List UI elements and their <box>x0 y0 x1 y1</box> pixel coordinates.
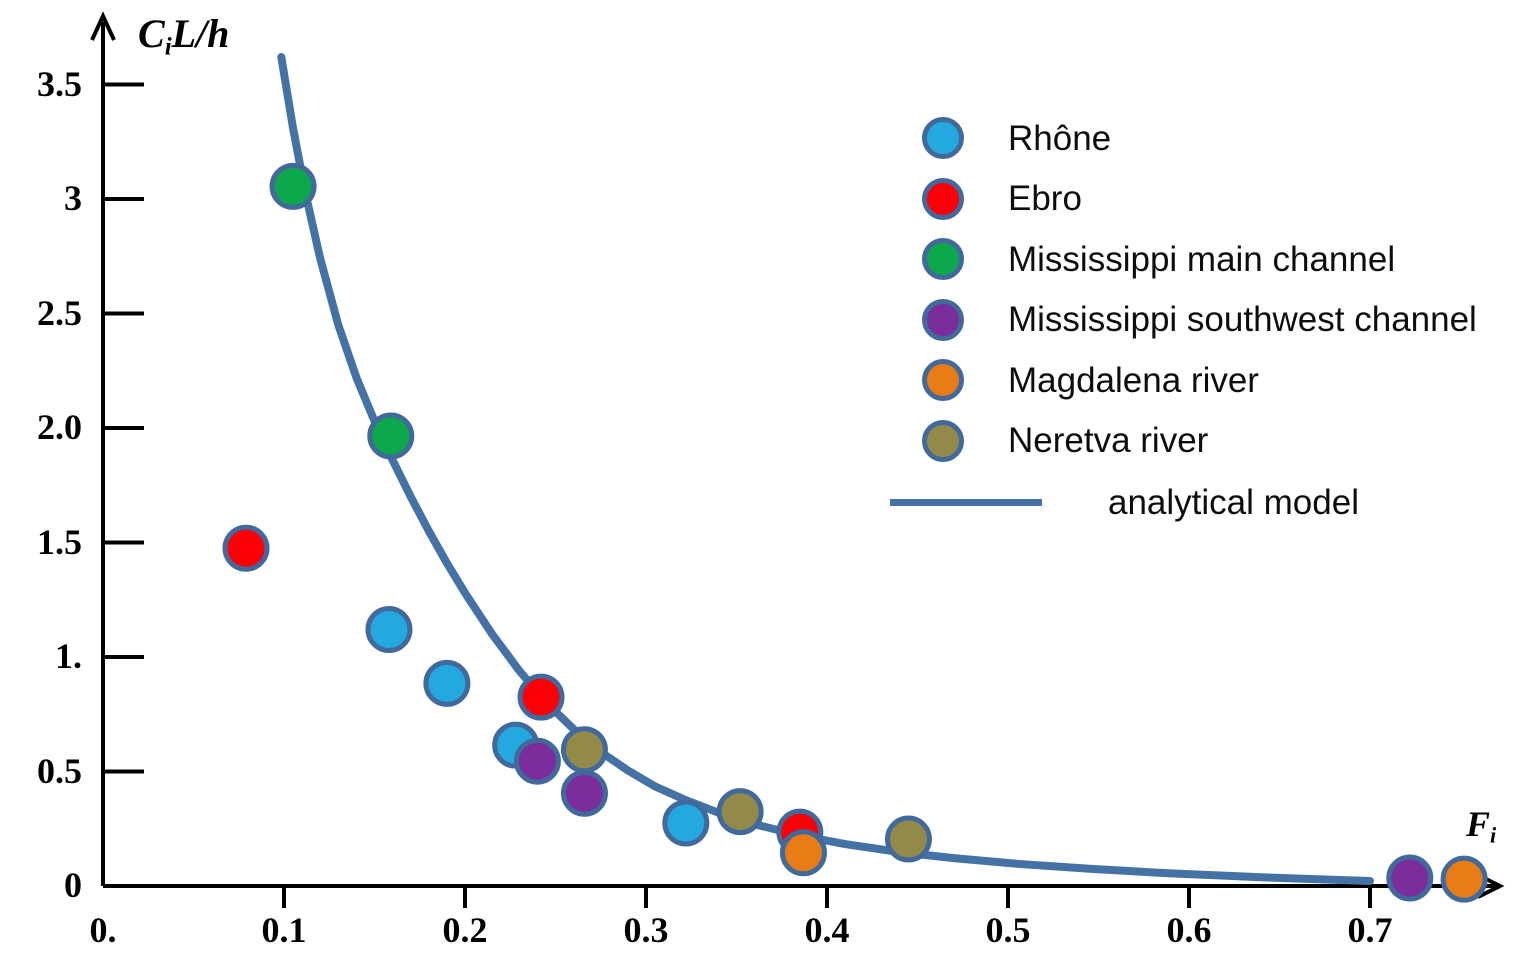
x-tick-label: 0.3 <box>601 912 691 948</box>
y-tick-label: 3.5 <box>2 66 82 102</box>
data-point-marker <box>520 676 562 718</box>
legend-item-label: Ebro <box>1008 181 1082 216</box>
data-point-marker <box>516 740 558 782</box>
chart-canvas: CiL/h Fi 00.51.1.52.02.533.50.0.10.20.30… <box>0 0 1523 977</box>
data-point-marker <box>719 791 761 833</box>
legend-marker-icon <box>922 117 964 159</box>
data-point-marker <box>887 818 929 860</box>
x-axis-title-main: F <box>1466 804 1490 844</box>
x-tick-label: 0.2 <box>420 912 510 948</box>
legend-item-label: Magdalena river <box>1008 363 1259 398</box>
legend-item-label: Neretva river <box>1008 423 1208 458</box>
legend-item-5[interactable]: Neretva river <box>922 411 1522 472</box>
y-tick-label: 2.0 <box>2 409 82 445</box>
x-axis-title: Fi <box>1466 806 1496 847</box>
y-tick-label: 3 <box>2 180 82 216</box>
legend-marker-icon <box>922 299 964 341</box>
legend-marker-icon <box>922 238 964 280</box>
y-tick-label: 1. <box>2 638 82 674</box>
x-tick-label: 0.6 <box>1144 912 1234 948</box>
legend-marker-icon <box>922 420 964 462</box>
data-point-marker <box>225 527 267 569</box>
data-point-marker <box>563 772 605 814</box>
x-tick-label: 0.1 <box>239 912 329 948</box>
x-axis-title-subscript: i <box>1490 823 1496 848</box>
legend-item-analytical-model[interactable]: analytical model <box>922 471 1522 533</box>
x-tick-label: 0.7 <box>1325 912 1415 948</box>
legend-item-3[interactable]: Mississippi southwest channel <box>922 290 1522 351</box>
legend-marker-icon <box>922 359 964 401</box>
legend-marker-icon <box>922 178 964 220</box>
y-axis-title-main: C <box>138 11 165 56</box>
y-tick-label: 1.5 <box>2 524 82 560</box>
y-axis-title-rest: L/h <box>172 11 230 56</box>
data-point-marker <box>782 832 824 874</box>
x-tick-label: 0.4 <box>782 912 872 948</box>
legend-item-label: Mississippi main channel <box>1008 242 1395 277</box>
y-tick-label: 2.5 <box>2 295 82 331</box>
x-tick-label: 0.5 <box>963 912 1053 948</box>
x-tick-label: 0. <box>58 912 148 948</box>
legend-item-label: Rhône <box>1008 121 1111 156</box>
data-point-marker <box>563 729 605 771</box>
data-point-marker <box>1443 858 1485 900</box>
data-point-marker <box>665 802 707 844</box>
legend-item-0[interactable]: Rhône <box>922 108 1522 169</box>
legend-line-icon <box>890 499 1042 506</box>
data-point-marker <box>368 609 410 651</box>
y-axis-title-subscript: i <box>165 33 172 60</box>
legend-item-label: Mississippi southwest channel <box>1008 302 1477 337</box>
legend-item-1[interactable]: Ebro <box>922 169 1522 230</box>
y-tick-label: 0.5 <box>2 753 82 789</box>
legend-model-label: analytical model <box>1108 485 1359 520</box>
chart-legend: RhôneEbroMississippi main channelMississ… <box>922 108 1522 533</box>
y-axis-title: CiL/h <box>138 14 229 60</box>
data-point-marker <box>426 662 468 704</box>
data-point-marker <box>370 415 412 457</box>
y-tick-label: 0 <box>2 867 82 903</box>
legend-item-2[interactable]: Mississippi main channel <box>922 229 1522 290</box>
data-point-marker <box>272 165 314 207</box>
data-point-marker <box>1389 857 1431 899</box>
legend-item-4[interactable]: Magdalena river <box>922 350 1522 411</box>
